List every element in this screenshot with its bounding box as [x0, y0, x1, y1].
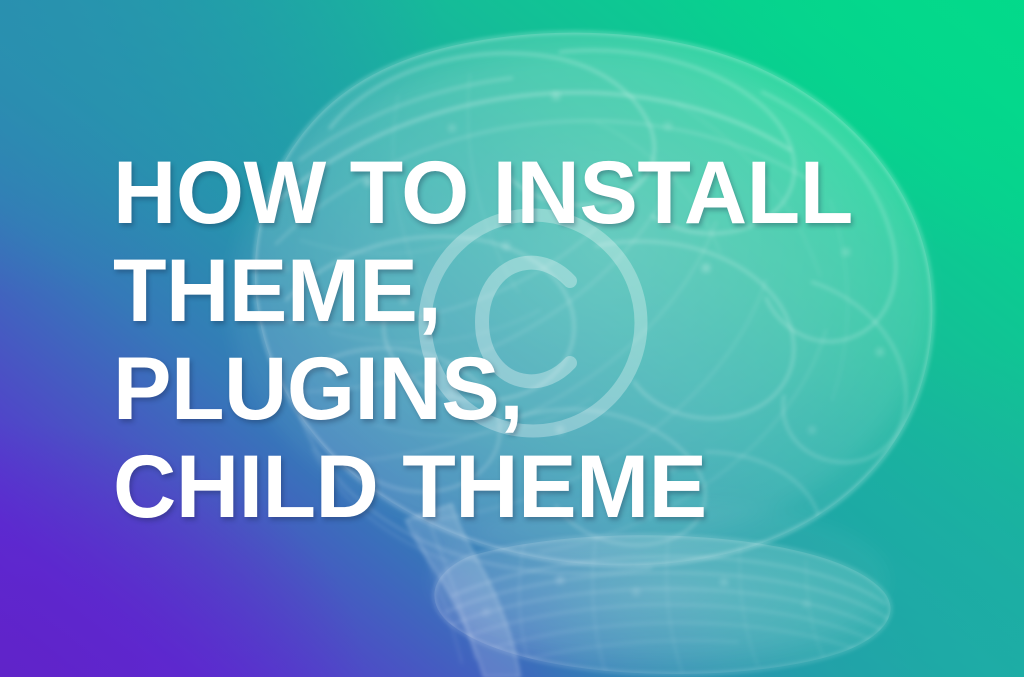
banner-image: HOW TO INSTALL THEME, PLUGINS, CHILD THE… [0, 0, 1024, 677]
headline-line-1: HOW TO INSTALL [113, 143, 853, 241]
headline-line-4: CHILD THEME [113, 437, 853, 535]
headline-line-3: PLUGINS, [113, 339, 853, 437]
headline-title: HOW TO INSTALL THEME, PLUGINS, CHILD THE… [113, 143, 864, 535]
headline-line-2: THEME, [113, 241, 853, 339]
